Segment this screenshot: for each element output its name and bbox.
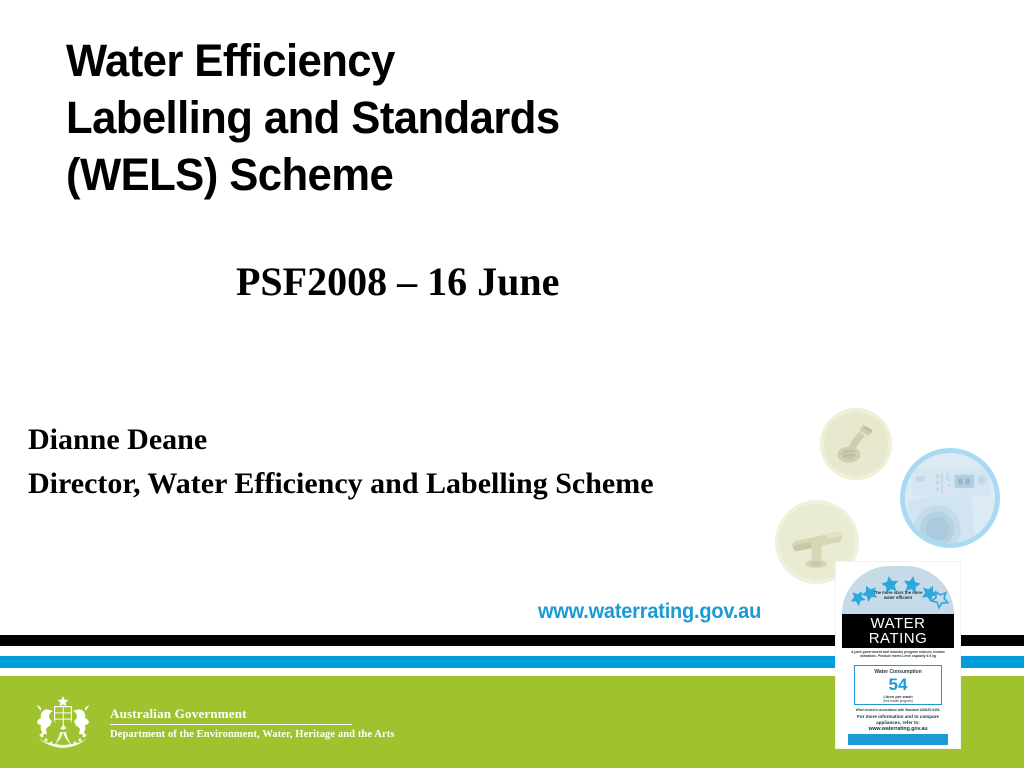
- title-line-1: Water Efficiency: [66, 32, 803, 89]
- government-name: Australian Government: [110, 706, 352, 725]
- water-consumption-unit-note: (this model program): [855, 699, 941, 703]
- water-consumption-box: Water Consumption 54 Litres per wash (th…: [854, 665, 942, 705]
- coat-of-arms-icon: [26, 694, 100, 754]
- label-refer-text: For more information and to compare appl…: [846, 714, 950, 726]
- australian-government-logo: Australian Government Department of the …: [26, 694, 395, 754]
- water-rating-label: The more stars the more water efficient …: [836, 562, 960, 748]
- water-rating-title: WATER RATING: [842, 614, 954, 648]
- subtitle: PSF2008 – 16 June: [236, 258, 559, 306]
- presenter-block: Dianne Deane Director, Water Efficiency …: [28, 418, 908, 506]
- star-rating-caption: The more stars the more water efficient: [873, 590, 923, 601]
- website-url[interactable]: www.waterrating.gov.au: [538, 600, 761, 624]
- presenter-role: Director, Water Efficiency and Labelling…: [28, 462, 908, 506]
- title-line-3: (WELS) Scheme: [66, 146, 803, 203]
- page-title: Water Efficiency Labelling and Standards…: [66, 32, 826, 203]
- label-url: www.waterrating.gov.au: [846, 726, 950, 732]
- label-standard-text: When tested in accordance with Standard …: [848, 708, 948, 712]
- presenter-name: Dianne Deane: [28, 418, 908, 462]
- washing-machine-photo-icon: [900, 448, 1000, 548]
- water-consumption-value: 54: [855, 676, 941, 694]
- star-rating-arc: The more stars the more water efficient: [842, 566, 954, 614]
- presentation-slide: Water Efficiency Labelling and Standards…: [0, 0, 1024, 768]
- water-rating-title-line-2: RATING: [869, 631, 928, 647]
- label-bottom-bar: [848, 734, 948, 745]
- showerhead-photo-icon: [820, 408, 892, 480]
- title-line-2: Labelling and Standards: [66, 89, 803, 146]
- water-rating-title-line-1: WATER: [871, 616, 926, 631]
- department-name: Department of the Environment, Water, He…: [110, 725, 395, 742]
- label-legal-text: A joint government and industry program …: [848, 650, 948, 659]
